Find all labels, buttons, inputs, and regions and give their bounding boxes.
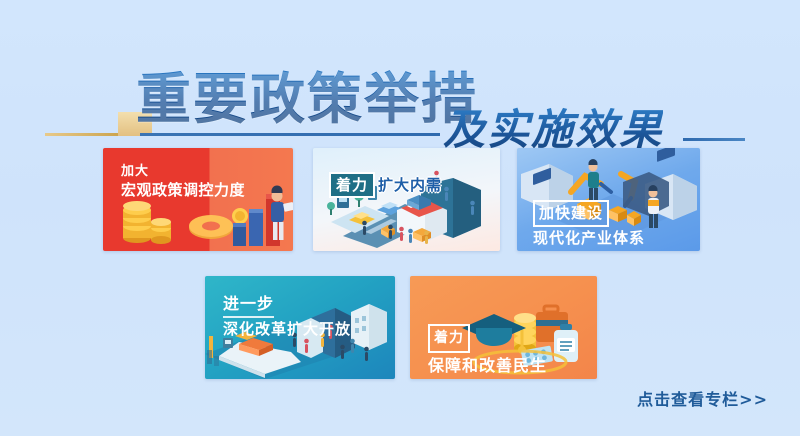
card-caption-line1: 加快建设 [533, 200, 645, 227]
view-column-link[interactable]: 点击查看专栏>> [637, 386, 768, 410]
card-caption-line2: 保障和改善民生 [428, 353, 547, 378]
card-caption-line2: 现代化产业体系 [533, 227, 645, 250]
blue-rule-right [683, 138, 745, 141]
card-caption-line1: 进一步 [223, 292, 274, 318]
card-caption: 着力 保障和改善民生 [428, 324, 547, 378]
card-caption-line1: 着力 [428, 324, 547, 353]
blue-rule-under-title [140, 133, 440, 136]
title-block: 重要政策举措 及实施效果 [0, 34, 800, 134]
card-caption: 着力扩大内需 [329, 172, 442, 198]
card-caption-line1: 着力 [329, 172, 375, 198]
page-subtitle: 及实施效果 [443, 107, 663, 153]
card-caption-line2: 深化改革扩大开放 [223, 318, 351, 341]
card-caption: 进一步 深化改革扩大开放 [223, 292, 351, 341]
card-caption-line1: 加大 [121, 162, 245, 181]
gold-rule-left [45, 133, 125, 136]
card-improve-livelihood[interactable]: 着力 保障和改善民生 [410, 276, 597, 379]
card-art-city-street [313, 148, 500, 251]
infographic-banner: 重要政策举措 及实施效果 [0, 0, 800, 436]
card-caption-line2: 扩大内需 [378, 176, 442, 194]
card-modern-industry[interactable]: 加快建设 现代化产业体系 [517, 148, 700, 251]
card-expand-demand[interactable]: 着力扩大内需 [313, 148, 500, 251]
card-deepen-reform[interactable]: 进一步 深化改革扩大开放 [205, 276, 395, 379]
card-macro-policy[interactable]: 加大 宏观政策调控力度 [103, 148, 293, 251]
card-caption: 加快建设 现代化产业体系 [533, 200, 645, 250]
card-caption: 加大 宏观政策调控力度 [121, 162, 245, 200]
card-caption-line2: 宏观政策调控力度 [121, 181, 245, 200]
page-title: 重要政策举措 [136, 70, 478, 128]
